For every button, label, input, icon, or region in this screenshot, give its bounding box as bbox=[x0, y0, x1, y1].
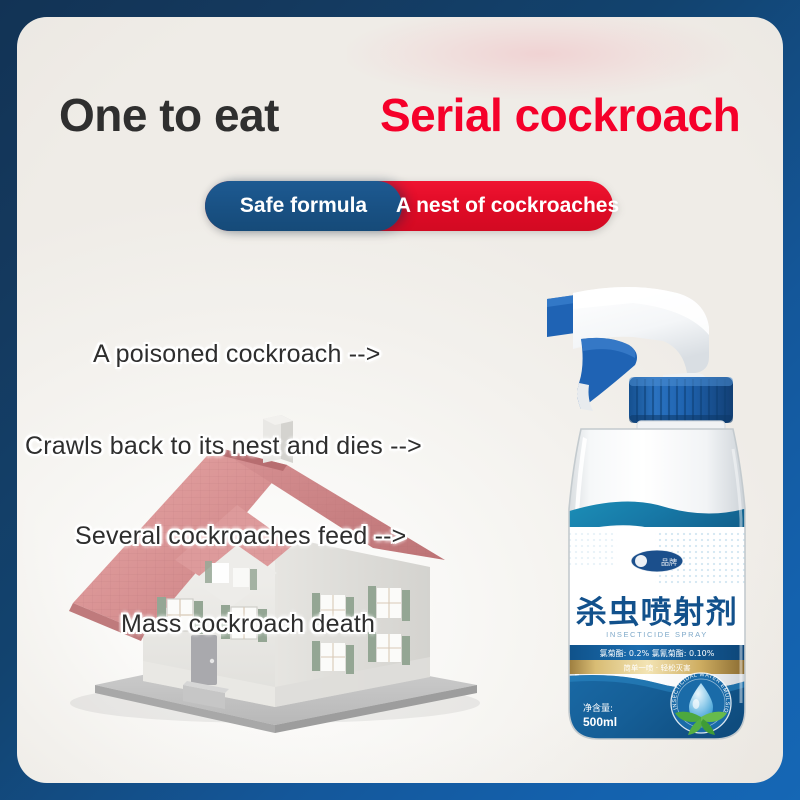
poster-frame: One to eat Serial cockroach Safe formula… bbox=[0, 0, 800, 800]
step-line-1: A poisoned cockroach --> bbox=[93, 340, 381, 369]
step-line-3: Several cockroaches feed --> bbox=[75, 522, 406, 551]
step-line-2: Crawls back to its nest and dies --> bbox=[25, 432, 422, 461]
poster-card: One to eat Serial cockroach Safe formula… bbox=[17, 17, 783, 783]
step-line-4: Mass cockroach death bbox=[121, 610, 375, 639]
step-text-group: A poisoned cockroach --> Crawls back to … bbox=[17, 17, 783, 783]
